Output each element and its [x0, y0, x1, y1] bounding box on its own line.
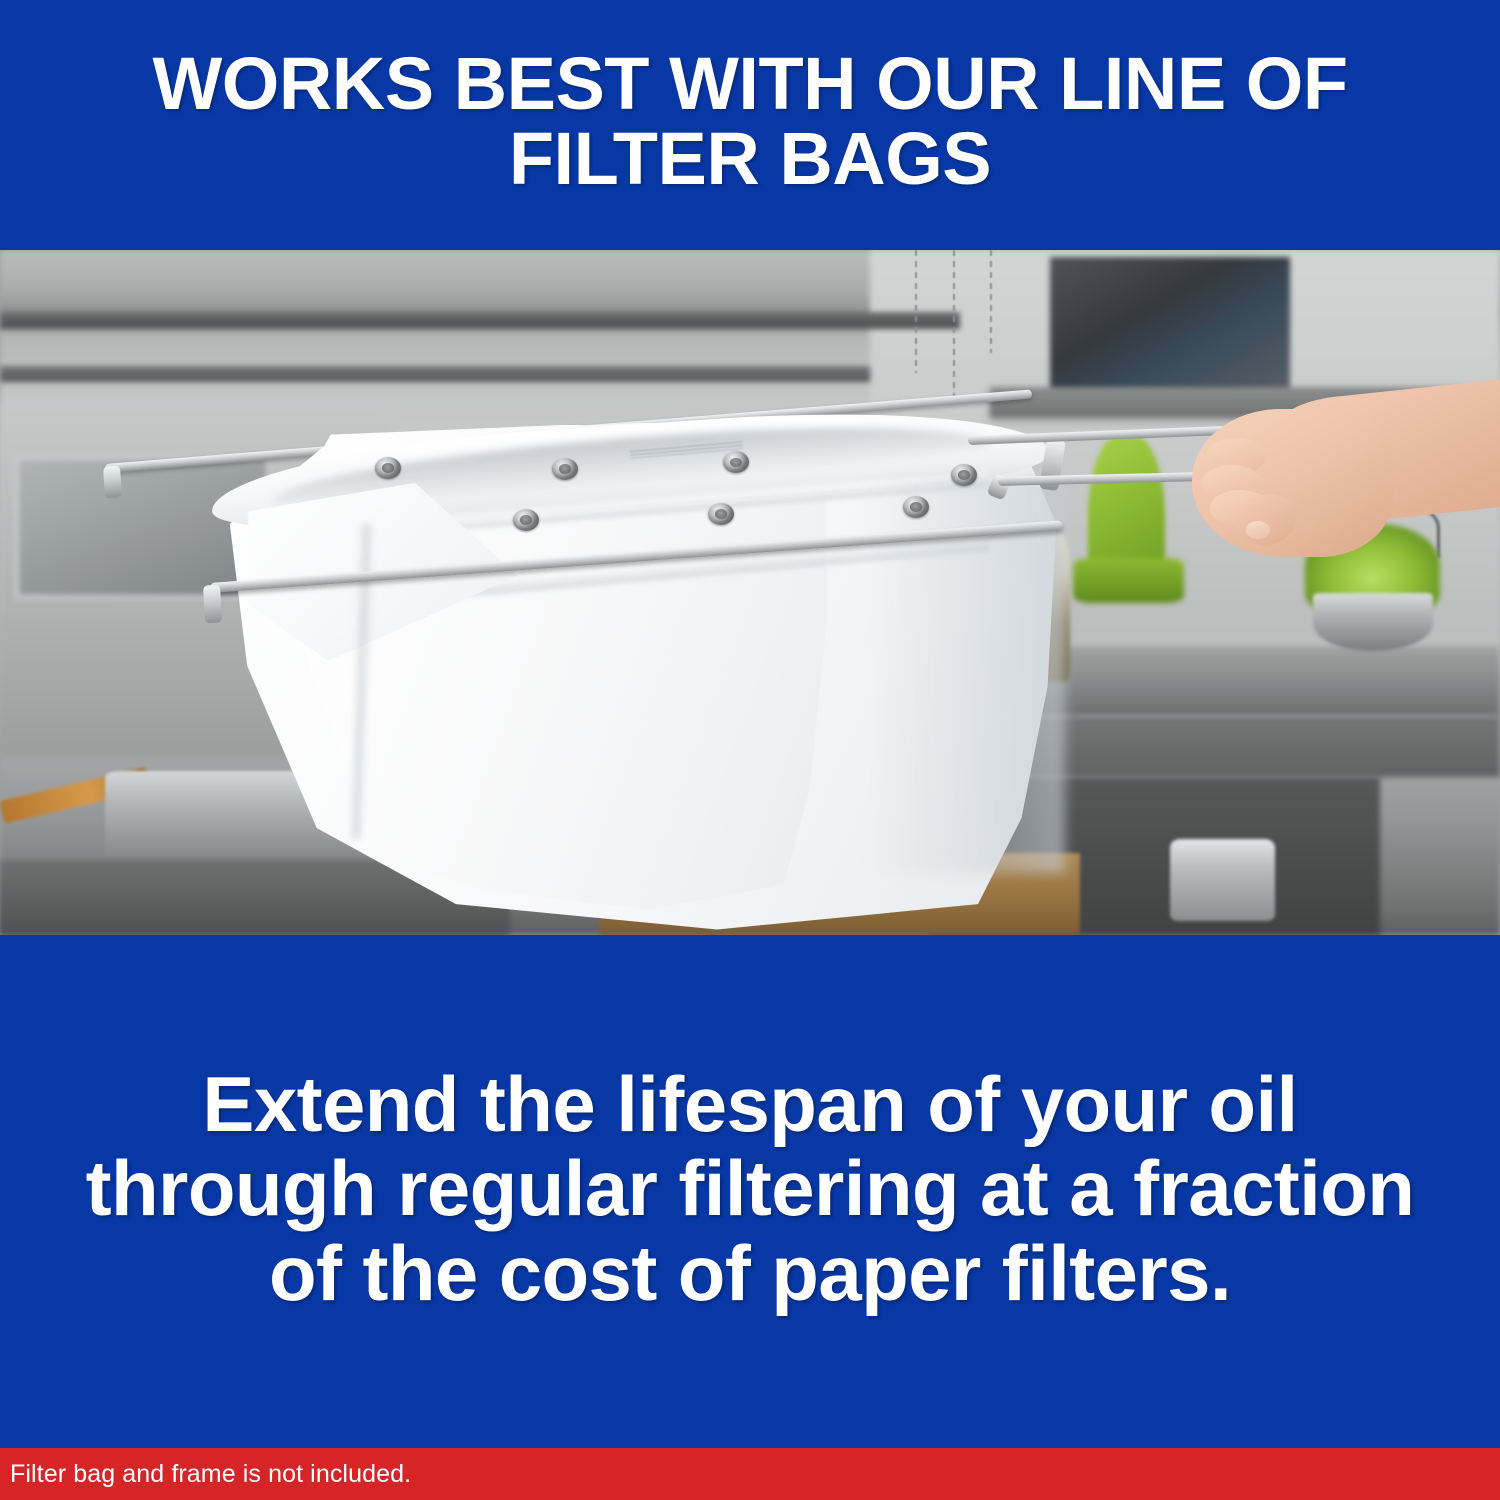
grommet-icon: [513, 509, 539, 531]
top-headline-text: WORKS BEST WITH OUR LINE OF FILTER BAGS: [130, 46, 1370, 197]
disclaimer-footer: Filter bag and frame is not included.: [0, 1448, 1500, 1500]
grommet-icon: [708, 503, 734, 525]
product-photo: [0, 250, 1500, 935]
grommet-icon: [375, 457, 401, 479]
product-marketing-poster: WORKS BEST WITH OUR LINE OF FILTER BAGS: [0, 0, 1500, 1500]
top-headline-banner: WORKS BEST WITH OUR LINE OF FILTER BAGS: [0, 0, 1500, 250]
grommet-icon: [951, 464, 977, 486]
hand-gripping-handle: [1170, 380, 1500, 586]
wire-frame-rear-tip: [102, 466, 121, 499]
disclaimer-text: Filter bag and frame is not included.: [10, 1460, 411, 1489]
bottom-headline-text: Extend the lifespan of your oil through …: [70, 1062, 1430, 1315]
wire-frame-front-tip: [203, 585, 222, 624]
bottom-message-panel: Extend the lifespan of your oil through …: [0, 935, 1500, 1448]
fist: [1192, 409, 1394, 557]
grommet-icon: [903, 496, 929, 518]
filter-bag-assembly: [0, 250, 1500, 935]
